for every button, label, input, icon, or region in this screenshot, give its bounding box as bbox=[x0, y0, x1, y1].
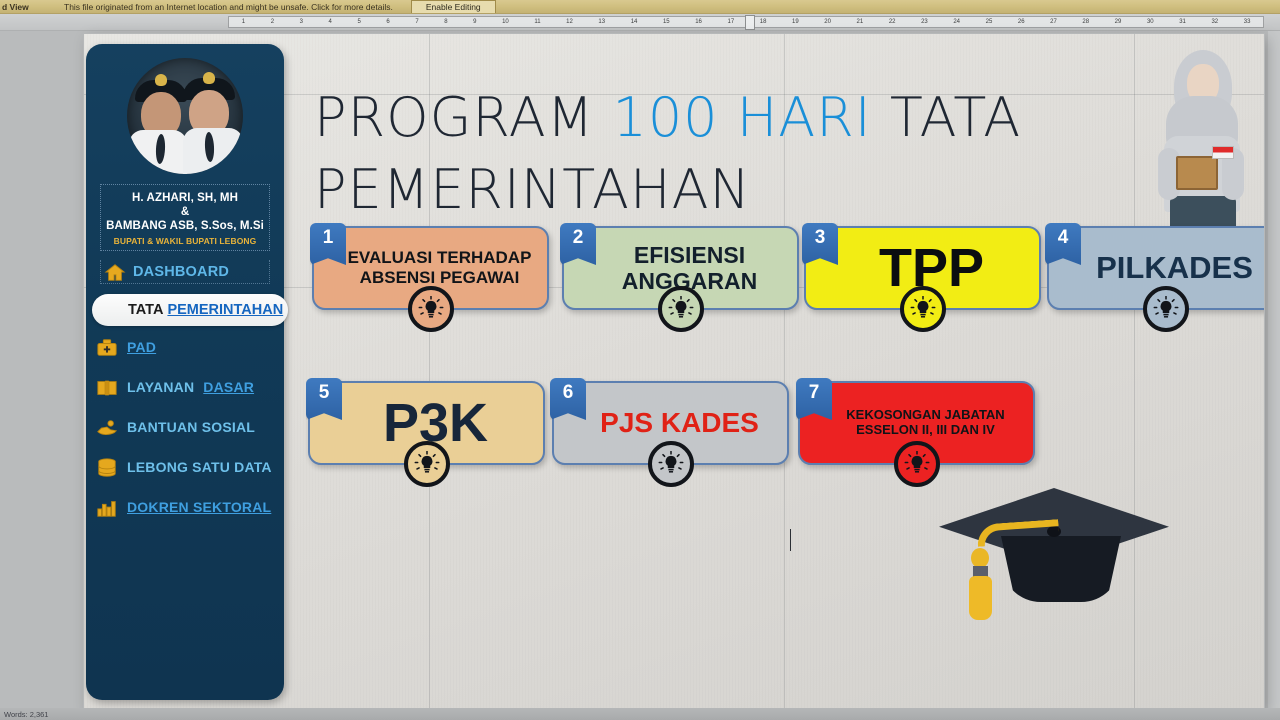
lightbulb-icon bbox=[1143, 286, 1189, 332]
ruler-tick: 13 bbox=[586, 17, 618, 27]
sidebar-item-bantuan-sosial-label: BANTUAN SOSIAL bbox=[127, 419, 255, 435]
graduation-cap-graphic bbox=[929, 474, 1219, 644]
sidebar-item-dashboard[interactable]: DASHBOARD bbox=[100, 260, 270, 284]
card-number-badge: 4 bbox=[1045, 223, 1081, 265]
sidebar-item-tata-pemerintahan[interactable]: TATA PEMERINTAHAN bbox=[92, 294, 288, 326]
page-title: PROGRAM 100 HARI TATA PEMERINTAHAN bbox=[314, 82, 1084, 226]
sidebar-item-bantuan-sosial[interactable]: BANTUAN SOSIAL bbox=[96, 412, 282, 442]
document-page[interactable]: H. AZHARI, SH, MH & BAMBANG ASB, S.Sos, … bbox=[84, 34, 1264, 710]
ruler-tick: 10 bbox=[489, 17, 521, 27]
program-card-4[interactable]: 4PILKADES bbox=[1047, 226, 1264, 310]
ruler-tick: 23 bbox=[908, 17, 940, 27]
ruler-tick: 4 bbox=[316, 17, 345, 27]
ruler-tick: 5 bbox=[345, 17, 374, 27]
lightbulb-icon bbox=[658, 286, 704, 332]
ruler-tick: 28 bbox=[1070, 17, 1102, 27]
ruler-tick: 16 bbox=[682, 17, 714, 27]
database-icon bbox=[96, 457, 118, 477]
sidebar-active-text-plain: TATA bbox=[128, 302, 163, 318]
ruler-tick: 6 bbox=[374, 17, 403, 27]
officials-role: BUPATI & WAKIL BUPATI LEBONG bbox=[105, 236, 265, 246]
page-title-pre: PROGRAM bbox=[314, 86, 612, 149]
ruler-tick: 14 bbox=[618, 17, 650, 27]
ruler-tick: 2 bbox=[258, 17, 287, 27]
ruler-tick: 32 bbox=[1199, 17, 1231, 27]
program-card-6[interactable]: 6PJS KADES bbox=[552, 381, 789, 465]
enable-editing-button[interactable]: Enable Editing bbox=[411, 0, 496, 14]
status-bar: Words: 2,361 bbox=[0, 708, 1280, 720]
official-name-separator: & bbox=[105, 205, 265, 219]
ruler-tick: 19 bbox=[779, 17, 811, 27]
vertical-scrollbar[interactable] bbox=[1268, 31, 1280, 708]
lightbulb-icon bbox=[404, 441, 450, 487]
horizontal-ruler[interactable]: 1234567891011121314151617181920212223242… bbox=[0, 14, 1280, 31]
sidebar-item-layanan-dasar[interactable]: LAYANAN DASAR bbox=[96, 372, 282, 402]
sidebar-item-dashboard-label: DASHBOARD bbox=[133, 264, 229, 280]
ruler-tick: 17 bbox=[715, 17, 747, 27]
lightbulb-icon bbox=[408, 286, 454, 332]
text-cursor bbox=[790, 529, 791, 551]
ruler-tick: 8 bbox=[431, 17, 460, 27]
ruler-indent-handle[interactable] bbox=[745, 15, 755, 30]
ruler-tick: 11 bbox=[522, 17, 554, 27]
protected-view-bar: d View This file originated from an Inte… bbox=[0, 0, 1280, 14]
sidebar-item-lebong-satu-data[interactable]: LEBONG SATU DATA bbox=[96, 452, 282, 482]
ruler-tick: 27 bbox=[1037, 17, 1069, 27]
lightbulb-icon bbox=[648, 441, 694, 487]
sidebar-item-lebong-satu-data-label: LEBONG SATU DATA bbox=[127, 459, 272, 475]
protected-view-label: d View bbox=[0, 2, 58, 12]
ruler-tick: 21 bbox=[844, 17, 876, 27]
sidebar-item-pad[interactable]: PAD bbox=[96, 332, 282, 362]
ruler-tick: 26 bbox=[1005, 17, 1037, 27]
card-label: EVALUASI TERHADAP ABSENSI PEGAWAI bbox=[344, 248, 535, 287]
card-label: PJS KADES bbox=[584, 407, 775, 439]
sidebar-item-dasar-label: DASAR bbox=[203, 379, 254, 395]
sidebar-active-text-link: PEMERINTAHAN bbox=[167, 302, 283, 318]
ruler-tick: 1 bbox=[229, 17, 258, 27]
card-label: PILKADES bbox=[1079, 250, 1264, 286]
card-number-badge: 1 bbox=[310, 223, 346, 265]
sidebar-item-layanan-label: LAYANAN bbox=[127, 379, 194, 395]
ruler-tick: 30 bbox=[1134, 17, 1166, 27]
helping-hand-icon bbox=[96, 417, 118, 437]
ruler-tick: 29 bbox=[1102, 17, 1134, 27]
ruler-tick: 20 bbox=[812, 17, 844, 27]
card-label: EFISIENSI ANGGARAN bbox=[594, 242, 785, 295]
word-count: Words: 2,361 bbox=[4, 710, 48, 719]
ruler-tick: 22 bbox=[876, 17, 908, 27]
card-number-badge: 2 bbox=[560, 223, 596, 265]
ruler-tick: 25 bbox=[973, 17, 1005, 27]
ruler-tick: 3 bbox=[287, 17, 316, 27]
card-number-badge: 7 bbox=[796, 378, 832, 420]
program-card-5[interactable]: 5P3K bbox=[308, 381, 545, 465]
program-card-2[interactable]: 2EFISIENSI ANGGARAN bbox=[562, 226, 799, 310]
leaders-portrait-avatar bbox=[127, 58, 243, 174]
open-book-icon bbox=[96, 377, 118, 397]
ruler-tick: 24 bbox=[941, 17, 973, 27]
official-name-1: H. AZHARI, SH, MH bbox=[105, 191, 265, 205]
program-card-7[interactable]: 7KEKOSONGAN JABATAN ESSELON II, III DAN … bbox=[798, 381, 1035, 465]
sidebar: H. AZHARI, SH, MH & BAMBANG ASB, S.Sos, … bbox=[86, 44, 284, 700]
city-chart-icon bbox=[96, 497, 118, 517]
protected-view-message: This file originated from an Internet lo… bbox=[58, 2, 393, 12]
sidebar-item-pad-label: PAD bbox=[127, 339, 156, 355]
card-number-badge: 3 bbox=[802, 223, 838, 265]
briefcase-medical-icon bbox=[96, 337, 118, 357]
ruler-tick: 12 bbox=[553, 17, 585, 27]
program-card-1[interactable]: 1EVALUASI TERHADAP ABSENSI PEGAWAI bbox=[312, 226, 549, 310]
ruler-tick: 31 bbox=[1166, 17, 1198, 27]
ruler-tick: 33 bbox=[1231, 17, 1263, 27]
ruler-tick: 9 bbox=[460, 17, 489, 27]
card-label: KEKOSONGAN JABATAN ESSELON II, III DAN I… bbox=[830, 408, 1021, 438]
lightbulb-icon bbox=[900, 286, 946, 332]
program-card-3[interactable]: 3TPP bbox=[804, 226, 1041, 310]
official-name-2: BAMBANG ASB, S.Sos, M.Si bbox=[105, 219, 265, 233]
ruler-tick: 7 bbox=[403, 17, 432, 27]
card-number-badge: 5 bbox=[306, 378, 342, 420]
officials-name-box: H. AZHARI, SH, MH & BAMBANG ASB, S.Sos, … bbox=[100, 184, 270, 251]
home-icon bbox=[104, 262, 126, 282]
page-title-highlight: 100 HARI bbox=[612, 86, 871, 149]
card-number-badge: 6 bbox=[550, 378, 586, 420]
sidebar-item-dokren-sektoral[interactable]: DOKREN SEKTORAL bbox=[96, 492, 282, 522]
sidebar-item-dokren-sektoral-label: DOKREN SEKTORAL bbox=[127, 499, 271, 515]
ruler-tick: 15 bbox=[650, 17, 682, 27]
